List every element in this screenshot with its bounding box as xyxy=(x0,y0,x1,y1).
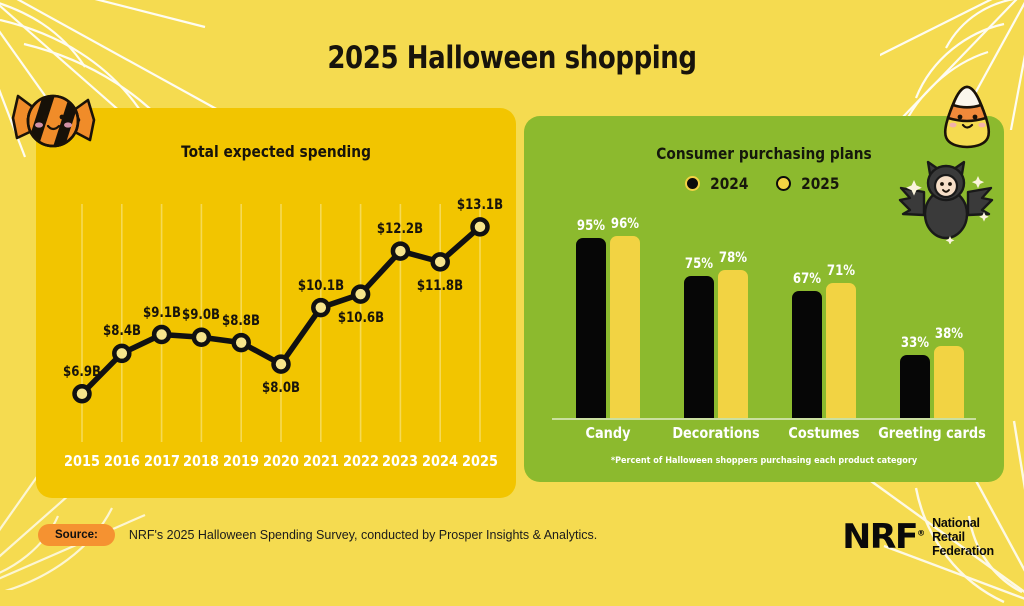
bar-2025 xyxy=(718,270,748,418)
x-axis-label: 2021 xyxy=(303,452,339,470)
x-axis-label: 2023 xyxy=(382,452,418,470)
bar-value-label: 71% xyxy=(827,263,855,279)
line-marker xyxy=(114,346,129,361)
data-point-label: $10.1B xyxy=(298,278,344,294)
data-point-label: $9.0B xyxy=(182,307,220,323)
nrf-letters: NRF xyxy=(842,517,917,557)
data-point-label: $10.6B xyxy=(338,310,384,326)
bar-value-label: 33% xyxy=(901,335,929,351)
data-point-label: $8.0B xyxy=(262,380,300,396)
source-text: NRF's 2025 Halloween Spending Survey, co… xyxy=(129,528,597,542)
bar-value-label: 78% xyxy=(719,250,747,266)
bar-2024 xyxy=(576,238,606,419)
line-marker xyxy=(75,386,90,401)
line-chart xyxy=(36,108,516,498)
bar-category-label: Greeting cards xyxy=(878,424,986,442)
bar-2025 xyxy=(610,236,640,418)
x-axis-label: 2016 xyxy=(104,452,140,470)
nrf-full-name: National Retail Federation xyxy=(932,516,994,558)
bar-value-label: 95% xyxy=(577,218,605,234)
nrf-name-line-2: Retail xyxy=(932,530,994,544)
bar-value-label: 67% xyxy=(793,271,821,287)
bar-category-label: Costumes xyxy=(788,424,859,442)
data-point-label: $9.1B xyxy=(143,305,181,321)
bar-2025 xyxy=(826,283,856,418)
bar-2024 xyxy=(900,355,930,418)
bar-chart-footnote: *Percent of Halloween shoppers purchasin… xyxy=(548,456,980,466)
x-axis-label: 2025 xyxy=(462,452,498,470)
page-title: 2025 Halloween shopping xyxy=(82,40,942,76)
x-axis-label: 2020 xyxy=(263,452,299,470)
x-axis-label: 2022 xyxy=(343,452,379,470)
nrf-name-line-1: National xyxy=(932,516,994,530)
line-marker xyxy=(473,219,488,234)
data-point-label: $8.4B xyxy=(103,323,141,339)
data-point-label: $11.8B xyxy=(417,278,463,294)
bar-2024 xyxy=(792,291,822,418)
bar-category-label: Candy xyxy=(585,424,630,442)
x-axis-label: 2024 xyxy=(422,452,458,470)
x-axis-label: 2015 xyxy=(64,452,100,470)
line-marker xyxy=(154,327,169,342)
bar-chart-baseline xyxy=(552,418,976,420)
line-marker xyxy=(234,335,249,350)
data-point-label: $13.1B xyxy=(457,197,503,213)
bar-2024 xyxy=(684,276,714,419)
x-axis-label: 2017 xyxy=(144,452,180,470)
line-marker xyxy=(393,244,408,259)
data-point-label: $8.8B xyxy=(222,313,260,329)
bar-value-label: 38% xyxy=(935,326,963,342)
source-row: Source: NRF's 2025 Halloween Spending Su… xyxy=(38,524,597,546)
line-marker xyxy=(313,300,328,315)
x-axis-label: 2018 xyxy=(183,452,219,470)
bar-chart: 95%96%Candy75%78%Decorations67%71%Costum… xyxy=(524,116,1004,482)
line-chart-x-axis: 2015201620172018201920202021202220232024… xyxy=(36,452,516,472)
data-point-label: $6.9B xyxy=(63,364,101,380)
bar-2025 xyxy=(934,346,964,418)
nrf-logo: NRF® National Retail Federation xyxy=(843,516,994,558)
line-marker xyxy=(274,357,289,372)
nrf-wordmark: NRF® xyxy=(842,520,923,554)
x-axis-label: 2019 xyxy=(223,452,259,470)
line-marker xyxy=(433,254,448,269)
data-point-label: $12.2B xyxy=(377,221,423,237)
panel-total-expected-spending: Total expected spending 2015201620172018… xyxy=(36,108,516,498)
source-label: Source: xyxy=(38,524,115,546)
infographic-canvas: 2025 Halloween shopping Total expected s… xyxy=(0,0,1024,576)
bar-value-label: 75% xyxy=(685,256,713,272)
line-marker xyxy=(194,330,209,345)
panel-consumer-purchasing-plans: Consumer purchasing plans 2024 2025 95%9… xyxy=(524,116,1004,482)
bar-value-label: 96% xyxy=(611,216,639,232)
nrf-name-line-3: Federation xyxy=(932,544,994,558)
line-marker xyxy=(353,287,368,302)
bar-category-label: Decorations xyxy=(672,424,759,442)
registered-icon: ® xyxy=(917,529,924,538)
